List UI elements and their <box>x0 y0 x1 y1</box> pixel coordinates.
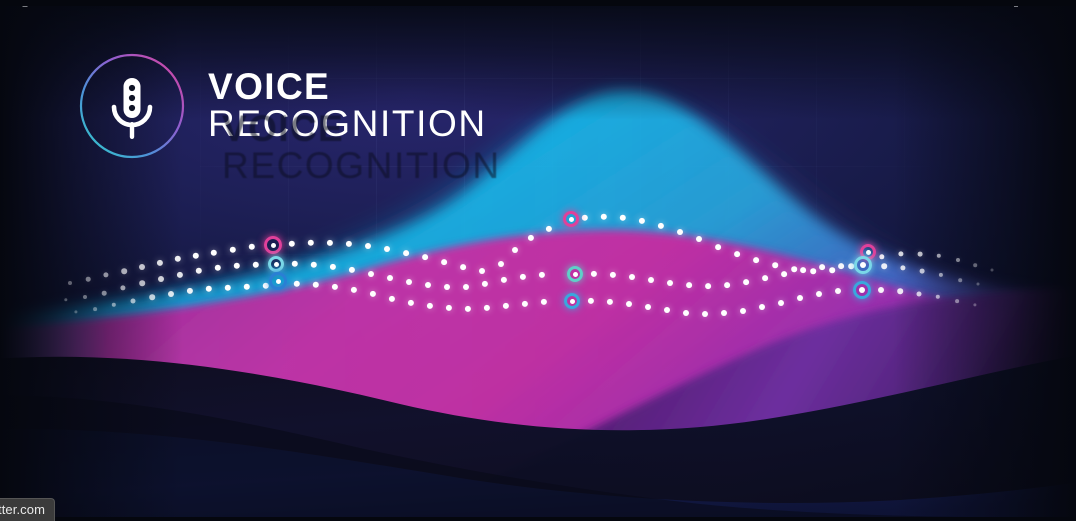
title-line-recognition: RECOGNITION <box>208 104 487 143</box>
voice-recognition-banner: VOICE RECOGNITION VOICE RECOGNITION itte… <box>0 0 1076 521</box>
brand-lockup: VOICE RECOGNITION VOICE RECOGNITION <box>78 52 487 160</box>
page-title: VOICE RECOGNITION VOICE RECOGNITION <box>208 69 487 144</box>
top-strip <box>0 0 1076 6</box>
browser-status-bar: itter.com <box>0 498 55 521</box>
bottom-strip <box>0 517 1076 521</box>
microphone-icon <box>78 52 186 160</box>
title-line-voice: VOICE <box>208 69 487 105</box>
